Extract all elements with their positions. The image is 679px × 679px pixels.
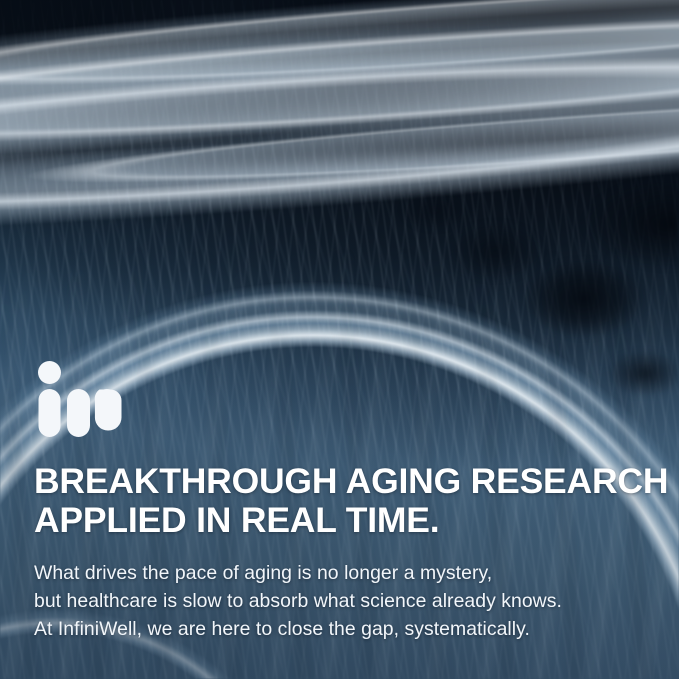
body-line-3: At InfiniWell, we are here to close the … bbox=[34, 615, 655, 643]
infiniwell-logo bbox=[34, 360, 122, 438]
body-line-2: but healthcare is slow to absorb what sc… bbox=[34, 587, 655, 615]
infiniwell-iw-monogram-icon bbox=[34, 360, 122, 438]
body-paragraph: What drives the pace of aging is no long… bbox=[34, 559, 655, 643]
body-line-1: What drives the pace of aging is no long… bbox=[34, 559, 655, 587]
promotional-poster: BREAKTHROUGH AGING RESEARCH APPLIED IN R… bbox=[0, 0, 679, 679]
headline-line-1: BREAKTHROUGH AGING RESEARCH bbox=[34, 462, 655, 501]
content-block: BREAKTHROUGH AGING RESEARCH APPLIED IN R… bbox=[34, 360, 655, 643]
headline: BREAKTHROUGH AGING RESEARCH APPLIED IN R… bbox=[34, 462, 655, 541]
headline-line-2: APPLIED IN REAL TIME. bbox=[34, 501, 655, 540]
